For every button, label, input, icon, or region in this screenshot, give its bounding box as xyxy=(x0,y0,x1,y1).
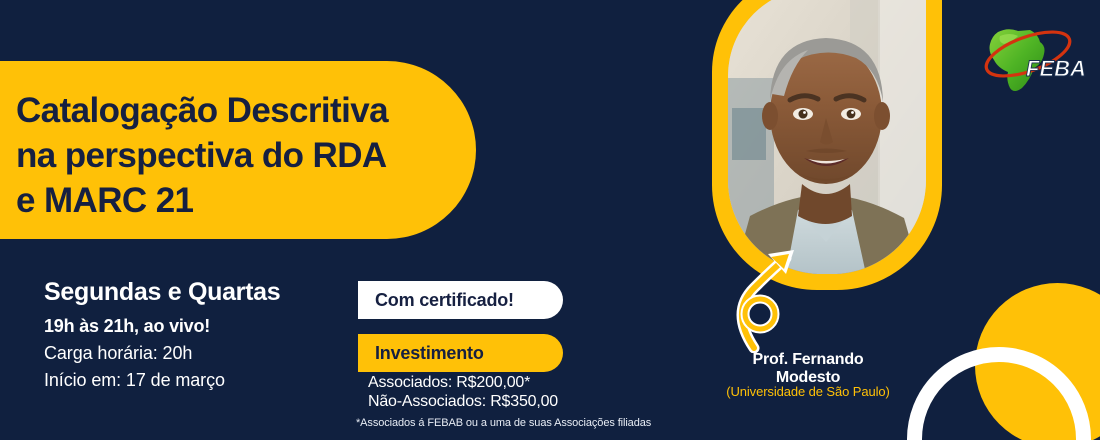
promo-banner: Catalogação Descritiva na perspectiva do… xyxy=(0,0,1100,440)
price-associates: Associados: R$200,00* xyxy=(368,374,530,392)
page-title: Catalogação Descritiva na perspectiva do… xyxy=(16,88,486,223)
certificate-badge: Com certificado! xyxy=(358,281,563,319)
febab-logo-text: FEBAB xyxy=(1026,56,1086,81)
schedule-workload: Carga horária: 20h xyxy=(44,343,344,364)
title-line-2: na perspectiva do RDA xyxy=(16,133,486,178)
price-non-associates: Não-Associados: R$350,00 xyxy=(368,393,558,411)
investment-badge: Investimento xyxy=(358,334,563,372)
speaker-photo xyxy=(728,0,926,274)
schedule-start-date: Início em: 17 de março xyxy=(44,370,344,391)
speaker-name-line-1: Prof. Fernando xyxy=(693,351,923,369)
schedule-time: 19h às 21h, ao vivo! xyxy=(44,316,344,337)
investment-badge-label: Investimento xyxy=(358,343,484,364)
speaker-name: Prof. Fernando Modesto xyxy=(693,351,923,388)
pricing-footnote: *Associados á FEBAB ou a uma de suas Ass… xyxy=(356,417,651,429)
schedule-days: Segundas e Quartas xyxy=(44,277,344,307)
speaker-portrait-icon xyxy=(728,0,926,274)
certificate-badge-label: Com certificado! xyxy=(358,290,514,311)
schedule-block: Segundas e Quartas 19h às 21h, ao vivo! … xyxy=(44,277,344,391)
speaker-organization: (Universidade de São Paulo) xyxy=(693,384,923,399)
curved-arrow-icon xyxy=(724,248,834,353)
title-line-3: e MARC 21 xyxy=(16,178,486,223)
title-line-1: Catalogação Descritiva xyxy=(16,88,486,133)
febab-logo-icon: FEBAB xyxy=(968,18,1086,96)
